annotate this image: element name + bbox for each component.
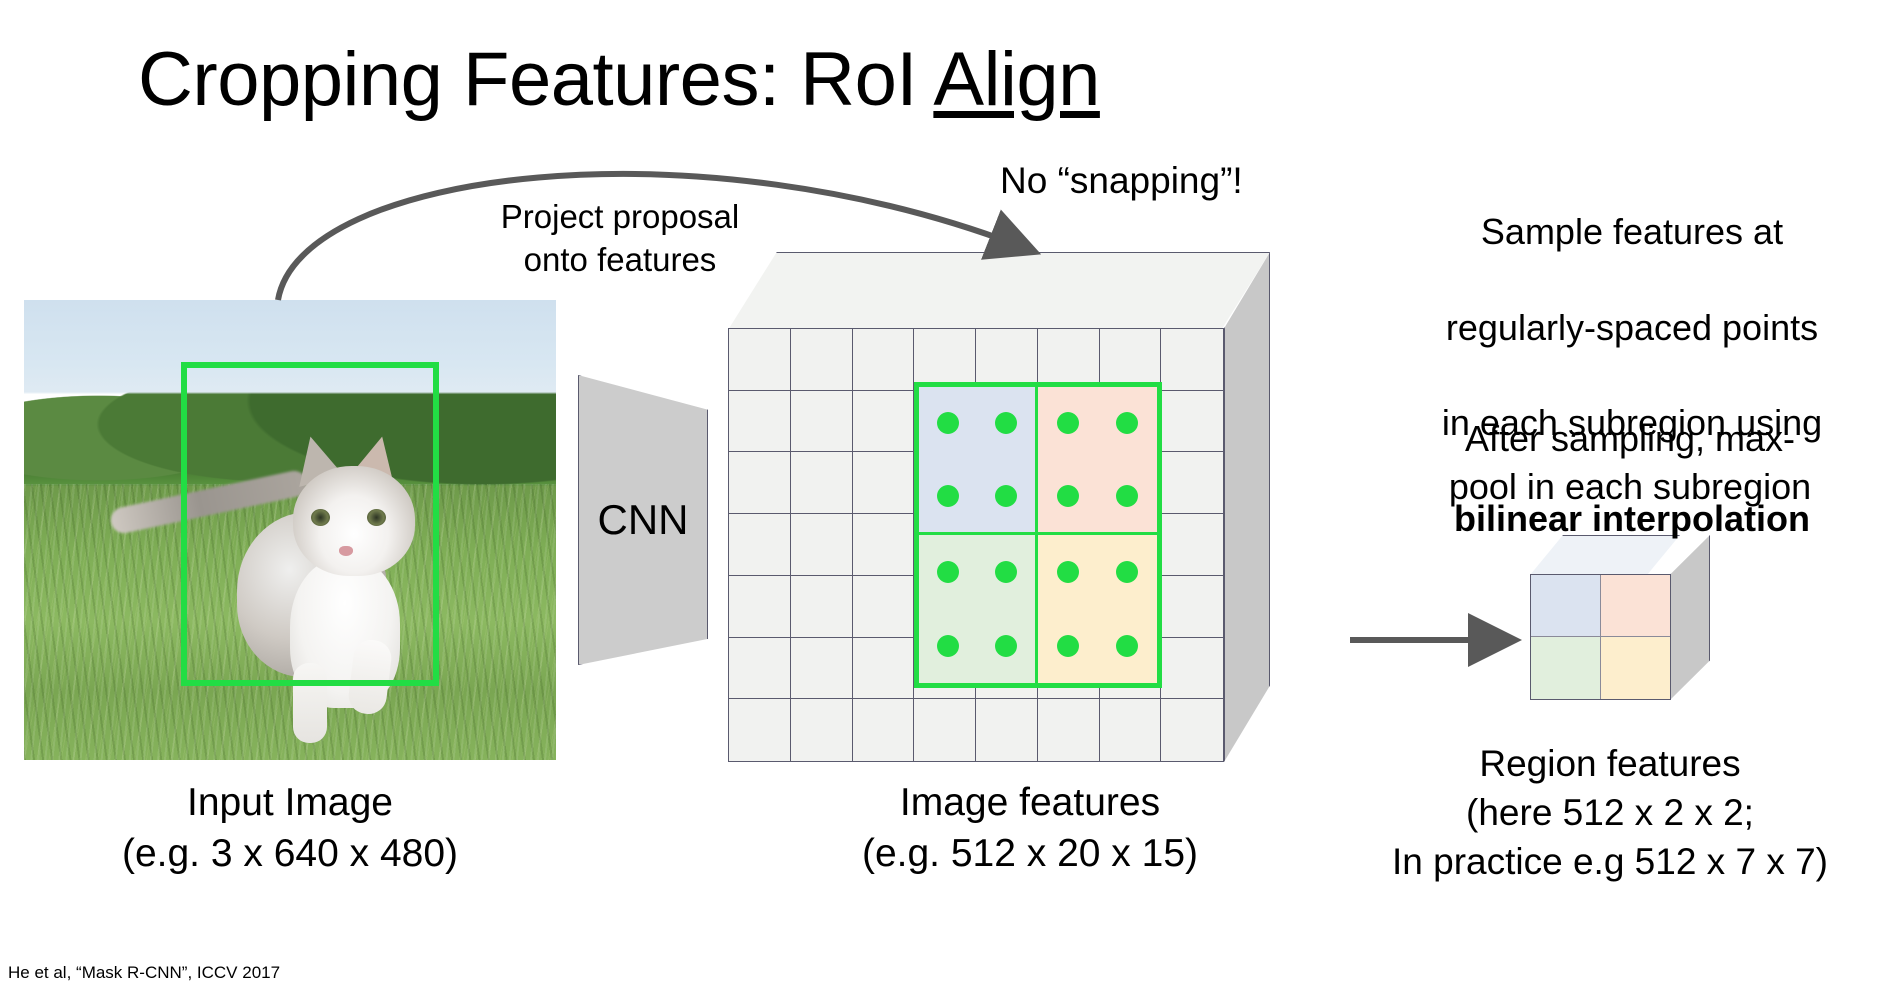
proposal-box-on-image xyxy=(181,362,439,686)
sample-point-dot xyxy=(995,561,1017,583)
sample-note-line1: Sample features at xyxy=(1481,211,1783,252)
sample-point-dot xyxy=(937,561,959,583)
feature-cell xyxy=(791,576,853,638)
feature-cell xyxy=(914,699,976,761)
feature-cell xyxy=(791,699,853,761)
cube-front-face xyxy=(1530,574,1671,700)
sample-point-dot xyxy=(995,635,1017,657)
feature-cell xyxy=(729,576,791,638)
caption-region-features: Region features (here 512 x 2 x 2; In pr… xyxy=(1330,740,1890,886)
cube-quadrant-bottom-right xyxy=(1601,637,1671,699)
cube-side-face xyxy=(1670,535,1710,700)
feature-cell xyxy=(1161,576,1223,638)
feature-cell xyxy=(853,514,915,576)
sample-point-dot xyxy=(1116,412,1138,434)
feature-map-top-face xyxy=(728,252,1270,330)
subregion-top-left xyxy=(919,387,1038,535)
caption-image-features: Image features (e.g. 512 x 20 x 15) xyxy=(750,778,1310,879)
subregion-top-right xyxy=(1038,387,1157,535)
feature-cell xyxy=(729,514,791,576)
feature-cell xyxy=(853,452,915,514)
feature-cell xyxy=(791,514,853,576)
feature-cell xyxy=(1161,329,1223,391)
cube-quadrant-top-right xyxy=(1601,575,1671,637)
projected-roi-region xyxy=(914,382,1162,688)
feature-cell xyxy=(853,699,915,761)
feature-cell xyxy=(1038,699,1100,761)
page-title-underlined: Align xyxy=(933,37,1100,122)
feature-cell xyxy=(729,391,791,453)
sample-point-dot xyxy=(1116,635,1138,657)
region-features-cube xyxy=(1530,535,1710,700)
sample-point-dot xyxy=(1057,635,1079,657)
page-title: Cropping Features: RoI Align xyxy=(138,40,1100,120)
feature-cell xyxy=(853,638,915,700)
feature-cell xyxy=(729,329,791,391)
sample-point-dot xyxy=(995,485,1017,507)
sample-point-dot xyxy=(937,635,959,657)
feature-cell xyxy=(853,329,915,391)
cube-quadrant-bottom-left xyxy=(1531,637,1601,699)
slide-canvas: Cropping Features: RoI Align CNN xyxy=(0,0,1892,996)
image-feature-map xyxy=(728,252,1270,762)
page-title-main: Cropping Features: RoI xyxy=(138,37,933,122)
feature-cell xyxy=(853,391,915,453)
feature-cell xyxy=(729,452,791,514)
sample-point-dot xyxy=(937,412,959,434)
sample-point-dot xyxy=(1116,485,1138,507)
feature-cell xyxy=(729,699,791,761)
caption-input-image: Input Image (e.g. 3 x 640 x 480) xyxy=(30,778,550,879)
subregion-bottom-right xyxy=(1038,535,1157,683)
cnn-label: CNN xyxy=(578,375,708,665)
sample-point-dot xyxy=(1057,561,1079,583)
maxpool-note: After sampling, max- pool in each subreg… xyxy=(1390,415,1870,511)
sample-point-dot xyxy=(937,485,959,507)
citation-text: He et al, “Mask R-CNN”, ICCV 2017 xyxy=(8,963,280,983)
sample-point-dot xyxy=(1116,561,1138,583)
sample-point-dot xyxy=(995,412,1017,434)
input-image-photo xyxy=(24,300,556,760)
feature-cell xyxy=(1100,699,1162,761)
feature-cell xyxy=(1161,391,1223,453)
feature-cell xyxy=(791,329,853,391)
no-snapping-label: No “snapping”! xyxy=(1000,158,1330,204)
feature-cell xyxy=(853,576,915,638)
sample-point-dot xyxy=(1057,412,1079,434)
feature-cell xyxy=(791,638,853,700)
feature-cell xyxy=(976,699,1038,761)
feature-cell xyxy=(1161,699,1223,761)
project-proposal-label: Project proposal onto features xyxy=(470,196,770,282)
sample-note-line2: regularly-spaced points xyxy=(1446,307,1818,348)
feature-cell xyxy=(1161,638,1223,700)
cube-quadrant-top-left xyxy=(1531,575,1601,637)
feature-cell xyxy=(1161,452,1223,514)
sample-point-dot xyxy=(1057,485,1079,507)
feature-cell xyxy=(1161,514,1223,576)
feature-cell xyxy=(729,638,791,700)
feature-cell xyxy=(791,452,853,514)
feature-map-side-face xyxy=(1224,252,1270,762)
subregion-bottom-left xyxy=(919,535,1038,683)
feature-cell xyxy=(791,391,853,453)
